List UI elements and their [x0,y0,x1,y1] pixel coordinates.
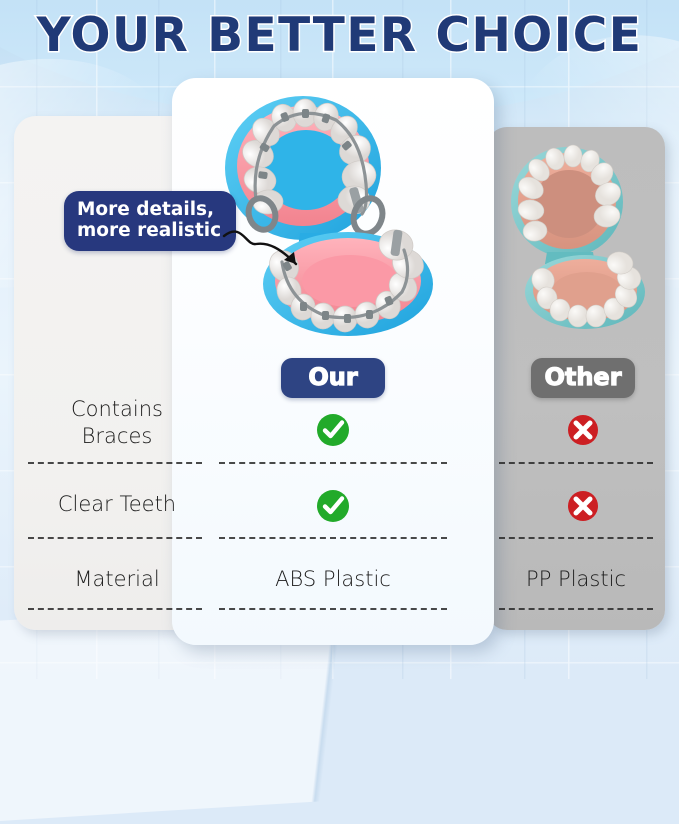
feature-label-row-1: Contains Braces [22,396,212,450]
red-cross-circle-icon [563,410,603,450]
other-value-row-3: PP Plastic [494,566,658,593]
row-divider-left-3 [28,608,202,610]
green-check-circle-icon [313,486,353,526]
row-divider-right-2 [499,537,653,539]
row-divider-left-2 [28,537,202,539]
our-value-row-3: ABS Plastic [224,566,442,593]
green-check-circle-icon [313,410,353,450]
row-divider-mid-3 [219,608,447,610]
other-product-image [497,140,657,330]
page-title: YOUR BETTER CHOICE [0,8,679,63]
other-column-badge: Other [531,358,635,398]
row-divider-right-3 [499,608,653,610]
row-divider-mid-1 [219,462,447,464]
curved-arrow-icon [222,212,332,284]
callout-line-2: more realistic [77,220,223,241]
callout-bubble: More details, more realistic [64,191,236,251]
feature-label-row-3: Material [22,566,212,593]
feature-label-row-1-line-2: Braces [22,423,212,450]
row-divider-mid-2 [219,537,447,539]
row-divider-left-1 [28,462,202,464]
row-divider-right-1 [499,462,653,464]
feature-label-row-1-line-1: Contains [22,396,212,423]
feature-label-row-2: Clear Teeth [22,491,212,518]
red-cross-circle-icon [563,486,603,526]
our-column-badge: Our [281,358,385,398]
callout-line-1: More details, [77,199,223,220]
